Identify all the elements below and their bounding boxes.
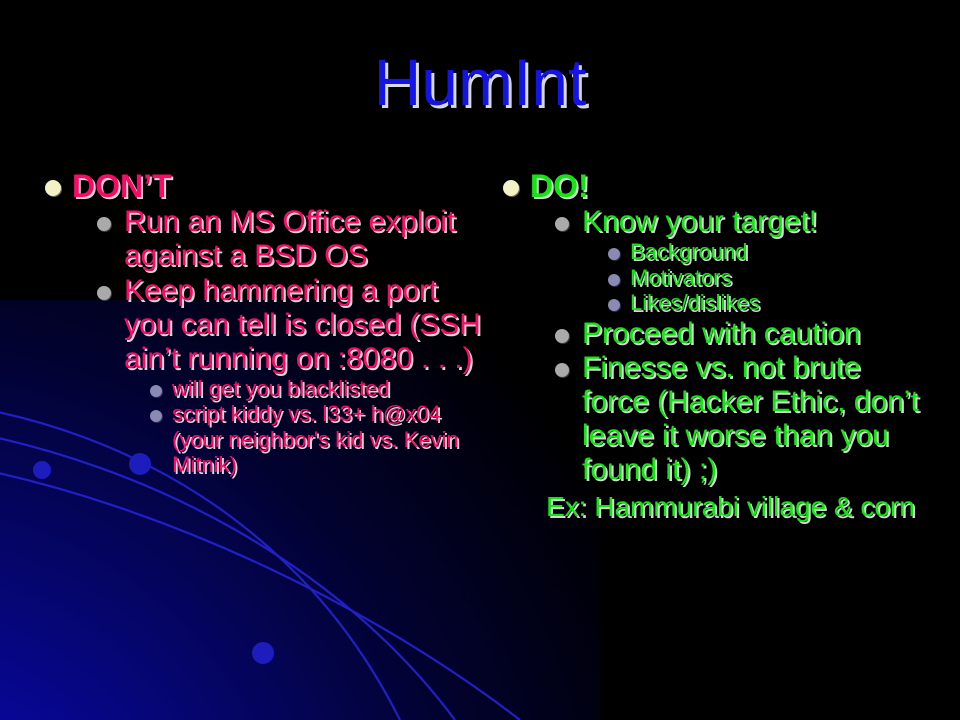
right-heading-item: DO! Know your target! Background: [492, 168, 932, 523]
list-item: Run an MS Office exploit against a BSD O…: [88, 205, 486, 273]
right-bullet-list-level2: Know your target! Background Motivators: [546, 205, 932, 523]
arc-inner: [0, 465, 520, 720]
left-bullet-list-level2: Run an MS Office exploit against a BSD O…: [88, 205, 486, 478]
list-item: will get you blacklisted: [142, 376, 486, 402]
arc-dot-3: [252, 642, 274, 664]
list-item-label: Keep hammering a port you can tell is cl…: [124, 274, 486, 376]
list-item-label: script kiddy vs. l33+ h@x04 (your neighb…: [172, 401, 486, 478]
arc-dots: [33, 453, 274, 664]
bullet-dot-level3: [150, 410, 162, 422]
slide-canvas: HumInt DON’T Run an MS Office exploit ag…: [0, 0, 960, 720]
list-item: Background: [600, 239, 932, 265]
bullet-dot-level1: [45, 180, 61, 196]
list-item-label: Proceed with caution: [582, 317, 932, 351]
list-item: Keep hammering a port you can tell is cl…: [88, 274, 486, 478]
list-item: Finesse vs. not brute force (Hacker Ethi…: [546, 351, 932, 487]
bullet-dot-level2: [555, 363, 569, 377]
list-item-label: Run an MS Office exploit against a BSD O…: [124, 205, 486, 273]
bullet-dot-level1: [503, 180, 519, 196]
list-item: Likes/dislikes: [600, 290, 932, 316]
left-heading-item: DON’T Run an MS Office exploit against a…: [34, 168, 486, 478]
right-bullet-list-level3: Background Motivators Likes/dislikes: [600, 239, 932, 316]
left-content-column: DON’T Run an MS Office exploit against a…: [34, 168, 486, 480]
list-item-label: Likes/dislikes: [630, 290, 932, 316]
slide-title: HumInt: [0, 48, 960, 117]
list-item-label: will get you blacklisted: [172, 376, 486, 402]
list-item: Proceed with caution: [546, 317, 932, 351]
left-bullet-list-level3: will get you blacklisted script kiddy vs…: [142, 376, 486, 478]
right-content-column: DO! Know your target! Background: [492, 168, 932, 525]
left-heading-label: DON’T: [72, 168, 486, 205]
list-item: Know your target! Background Motivators: [546, 205, 932, 315]
example-note-label: Ex: Hammurabi village & corn: [570, 491, 932, 523]
list-item-label: Finesse vs. not brute force (Hacker Ethi…: [582, 351, 932, 487]
bullet-dot-level3: [608, 274, 620, 286]
list-item: Motivators: [600, 265, 932, 291]
list-item: script kiddy vs. l33+ h@x04 (your neighb…: [142, 401, 486, 478]
list-item-label: Background: [630, 239, 932, 265]
bullet-dot-level2: [97, 217, 111, 231]
bullet-dot-level2: [555, 329, 569, 343]
bullet-dot-level3: [608, 299, 620, 311]
right-heading-label: DO!: [530, 168, 932, 205]
list-item-label: Know your target!: [582, 205, 932, 239]
bullet-dot-level2: [97, 286, 111, 300]
list-item-label: Motivators: [630, 265, 932, 291]
left-bullet-list-level1: DON’T Run an MS Office exploit against a…: [34, 168, 486, 478]
bullet-dot-level2: [555, 217, 569, 231]
bullet-dot-level3: [608, 248, 620, 260]
example-note: Ex: Hammurabi village & corn: [546, 491, 932, 523]
bullet-dot-level3: [150, 385, 162, 397]
right-bullet-list-level1: DO! Know your target! Background: [492, 168, 932, 523]
